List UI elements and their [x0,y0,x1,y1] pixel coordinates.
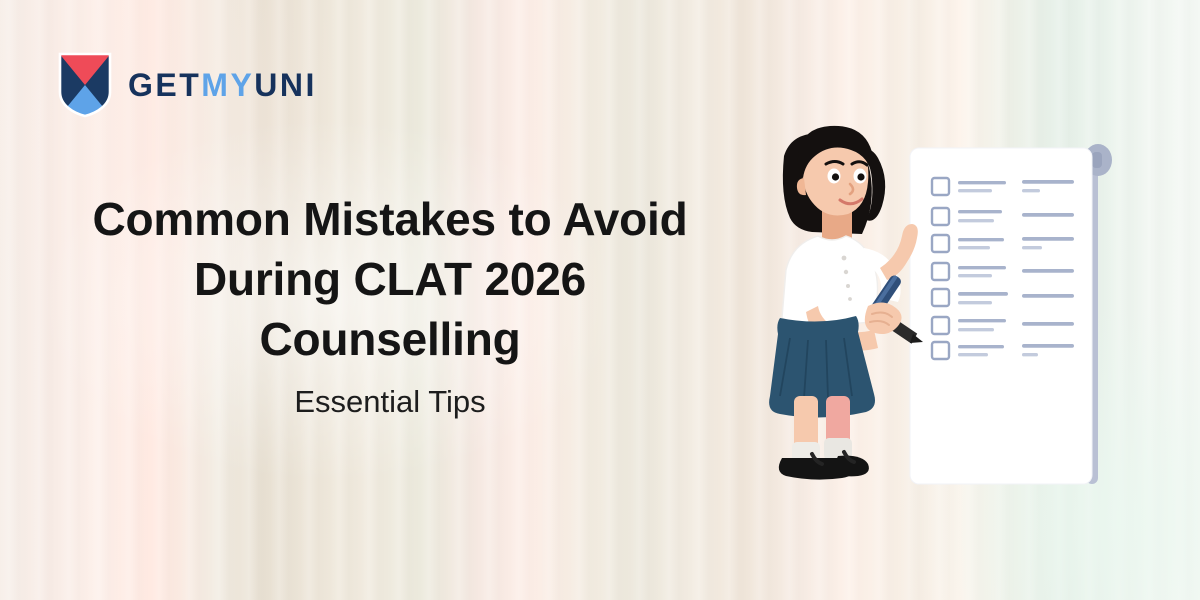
getmyuni-logo[interactable]: GETMYUNI [58,52,317,118]
shield-icon [58,52,112,118]
wordmark-uni: UNI [254,67,317,103]
getmyuni-wordmark: GETMYUNI [128,69,317,101]
wordmark-get: GET [128,67,201,103]
page-subtitle: Essential Tips [40,383,740,420]
promo-banner: GETMYUNI Common Mistakes to Avoid During… [0,0,1200,600]
title-line-1: Common Mistakes to Avoid [93,193,688,245]
checklist-board [910,148,1092,484]
page-title: Common Mistakes to Avoid During CLAT 202… [40,190,740,369]
student-character [769,126,923,480]
wordmark-my: MY [201,67,254,103]
headline-block: Common Mistakes to Avoid During CLAT 202… [40,190,740,421]
student-with-checklist-board [760,90,1180,510]
title-line-3: Counselling [259,313,520,365]
title-line-2: During CLAT 2026 [194,253,586,305]
